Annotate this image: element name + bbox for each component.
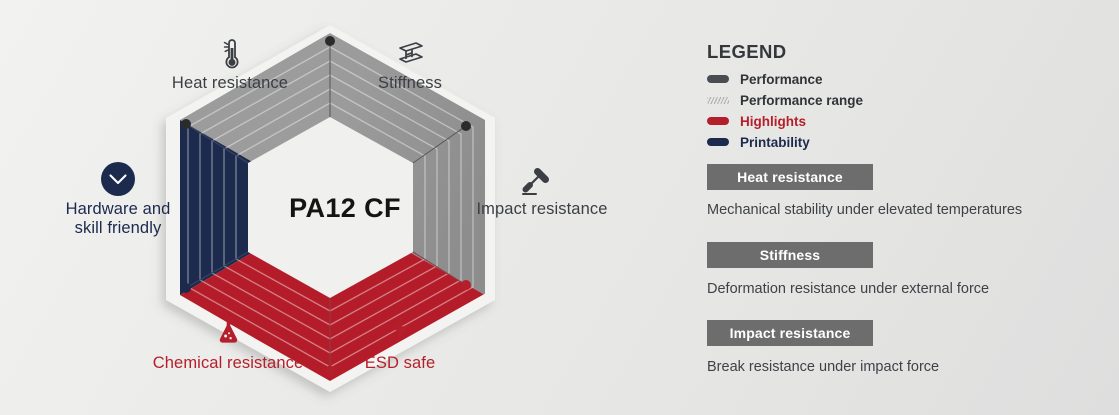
legend-item-highlights: Highlights <box>707 113 806 129</box>
legend-swatch-printability-icon <box>707 138 729 146</box>
property-chip-stiffness[interactable]: Stiffness <box>707 242 873 268</box>
axis-label-hardware-line2: skill friendly <box>75 219 162 237</box>
axis-label-esd-safe: ESD safe <box>330 354 470 373</box>
property-chip-label: Impact resistance <box>730 325 851 341</box>
infographic-stage: PA12 CF <box>0 0 1119 415</box>
legend-panel: LEGEND Performance Performance range Hig… <box>707 0 1119 415</box>
legend-label-performance-range: Performance range <box>740 93 863 108</box>
axis-label-chemical-resistance: Chemical resistance <box>128 354 328 373</box>
property-description-heat-resistance: Mechanical stability under elevated temp… <box>707 202 1022 218</box>
legend-title: LEGEND <box>707 41 787 63</box>
property-description-stiffness: Deformation resistance under external fo… <box>707 281 989 297</box>
property-chip-label: Heat resistance <box>737 169 843 185</box>
axis-dot-heat <box>181 119 191 129</box>
chevron-down-circle-icon <box>100 161 136 202</box>
axis-dot-heat-stiffness-top <box>325 36 335 46</box>
property-chip-heat-resistance[interactable]: Heat resistance <box>707 164 873 190</box>
axis-label-stiffness: Stiffness <box>330 74 490 93</box>
ibeam-icon <box>396 40 426 75</box>
legend-label-highlights: Highlights <box>740 114 806 129</box>
property-chip-label: Stiffness <box>760 247 820 263</box>
legend-item-performance: Performance <box>707 71 823 87</box>
axis-dot-esd <box>461 280 471 290</box>
axis-dot-stiffness <box>461 121 471 131</box>
property-description-impact-resistance: Break resistance under impact force <box>707 359 939 375</box>
legend-item-performance-range: Performance range <box>707 92 863 108</box>
legend-item-printability: Printability <box>707 134 810 150</box>
axis-label-impact-resistance: Impact resistance <box>447 200 637 219</box>
axis-dot-hardware-lower <box>181 283 191 293</box>
legend-label-performance: Performance <box>740 72 823 87</box>
flask-icon <box>213 315 243 350</box>
hammer-icon <box>521 167 553 202</box>
axis-label-hardware-skill-friendly: Hardware and skill friendly <box>38 200 198 239</box>
thermometer-icon <box>219 36 247 77</box>
legend-swatch-performance-icon <box>707 75 729 83</box>
axis-label-heat-resistance: Heat resistance <box>130 74 330 93</box>
property-chip-impact-resistance[interactable]: Impact resistance <box>707 320 873 346</box>
axis-label-hardware-line1: Hardware and <box>66 200 171 218</box>
legend-swatch-performance-range-icon <box>707 97 729 104</box>
legend-label-printability: Printability <box>740 135 810 150</box>
radar-chart-panel: PA12 CF <box>0 0 690 415</box>
bolt-icon <box>390 314 412 349</box>
legend-swatch-highlights-icon <box>707 117 729 125</box>
